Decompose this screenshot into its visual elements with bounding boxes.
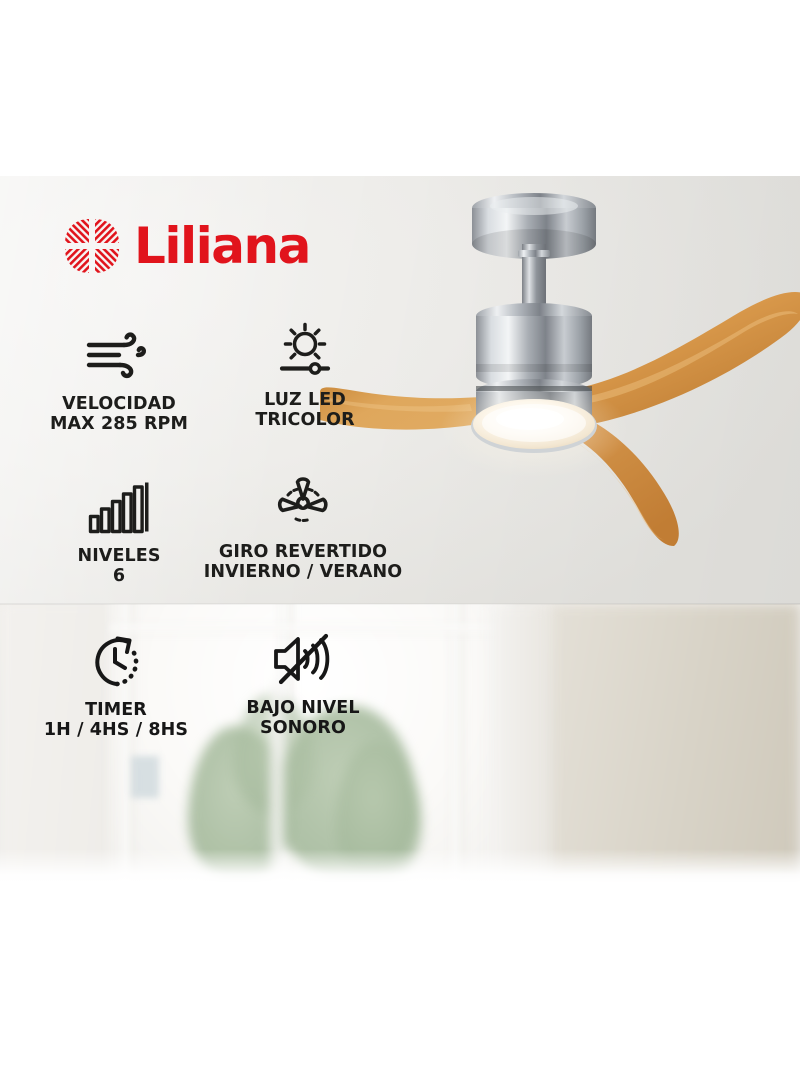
feature-label: TIMER 1H / 4HS / 8HS xyxy=(44,701,188,741)
feature-label: BAJO NIVEL SONORO xyxy=(246,699,359,739)
feature-label: GIRO REVERTIDO INVIERNO / VERANO xyxy=(204,543,402,583)
room-wall-swatch xyxy=(131,756,159,798)
feature-bajo-nivel-sonoro: BAJO NIVEL SONORO xyxy=(188,628,418,739)
feature-label: VELOCIDAD MAX 285 RPM xyxy=(50,395,188,435)
product-banner-page: Liliana VELOCIDAD MAX 285 RPM xyxy=(0,0,800,1067)
sun-slider-icon xyxy=(275,320,335,382)
wind-icon xyxy=(86,324,152,386)
window-mullion xyxy=(448,604,465,883)
room-right-wall xyxy=(550,604,800,883)
product-feature-banner: Liliana VELOCIDAD MAX 285 RPM xyxy=(0,176,800,883)
liliana-flower-mark xyxy=(61,215,123,277)
photo-bottom-fade xyxy=(0,849,800,883)
speaker-muted-icon xyxy=(272,628,334,690)
feature-giro-revertido: GIRO REVERTIDO INVIERNO / VERANO xyxy=(188,472,418,583)
brand-name: Liliana xyxy=(134,221,310,271)
brand-logo: Liliana xyxy=(61,215,310,277)
clock-timer-icon xyxy=(86,630,146,692)
feature-label: NIVELES 6 xyxy=(77,547,160,587)
room-wall-transition xyxy=(490,604,550,883)
fan-blades-icon xyxy=(274,472,332,534)
panel-divider xyxy=(0,603,800,605)
feature-luz-led: LUZ LED TRICOLOR xyxy=(190,320,420,431)
feature-label: LUZ LED TRICOLOR xyxy=(255,391,354,431)
signal-bars-icon xyxy=(88,476,150,538)
